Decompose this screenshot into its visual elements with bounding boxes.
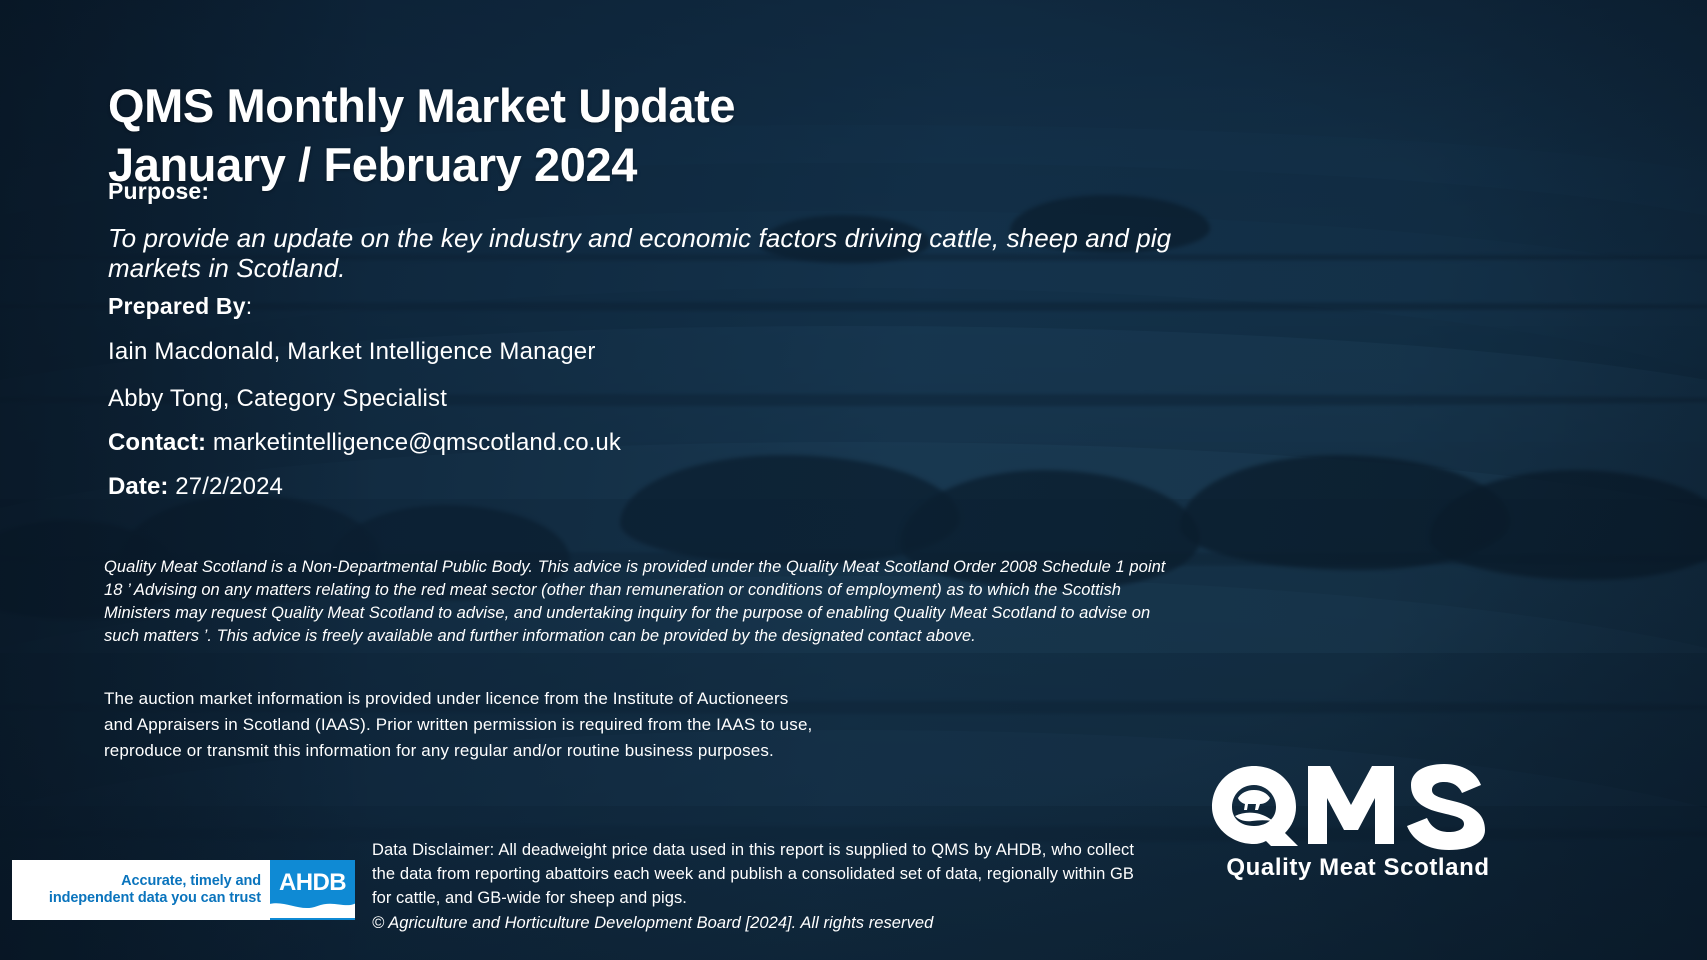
data-disclaimer: Data Disclaimer: All deadweight price da… — [372, 838, 1134, 935]
qms-logo: Quality Meat Scotland — [1208, 764, 1508, 882]
date-value: 27/2/2024 — [175, 473, 283, 500]
date-line: Date: 27/2/2024 — [108, 473, 283, 501]
page-title-line-1: QMS Monthly Market Update — [108, 79, 735, 132]
slide-content: QMS Monthly Market UpdateJanuary / Febru… — [0, 0, 1707, 960]
ahdb-wave-icon — [270, 896, 355, 918]
prepared-by-label-bold: Prepared By — [108, 293, 246, 319]
ahdb-strapline: Accurate, timely and independent data yo… — [12, 860, 270, 920]
data-disclaimer-body: Data Disclaimer: All deadweight price da… — [372, 841, 1134, 907]
prepared-by-person: Iain Macdonald, Market Intelligence Mana… — [108, 338, 596, 366]
ahdb-wordmark: AHDB — [279, 869, 346, 897]
contact-email[interactable]: marketintelligence@qmscotland.co.uk — [213, 429, 621, 456]
ahdb-logo: Accurate, timely and independent data yo… — [12, 860, 355, 920]
slide-canvas: QMS Monthly Market UpdateJanuary / Febru… — [0, 0, 1707, 960]
purpose-label: Purpose: — [108, 178, 209, 205]
qms-wordmark-icon — [1208, 764, 1508, 850]
iaas-licence-note: The auction market information is provid… — [104, 686, 904, 763]
qms-tagline: Quality Meat Scotland — [1208, 854, 1508, 882]
prepared-by-label-colon: : — [246, 293, 253, 319]
contact-line: Contact: marketintelligence@qmscotland.c… — [108, 429, 621, 457]
data-disclaimer-copyright: © Agriculture and Horticulture Developme… — [372, 911, 1134, 935]
contact-label: Contact: — [108, 429, 206, 456]
date-label: Date: — [108, 473, 169, 500]
prepared-by-person: Abby Tong, Category Specialist — [108, 385, 447, 413]
purpose-text: To provide an update on the key industry… — [108, 224, 1183, 283]
ndpb-legal-note: Quality Meat Scotland is a Non-Departmen… — [104, 556, 1176, 648]
ahdb-mark: AHDB — [270, 860, 355, 920]
prepared-by-label: Prepared By: — [108, 293, 252, 320]
